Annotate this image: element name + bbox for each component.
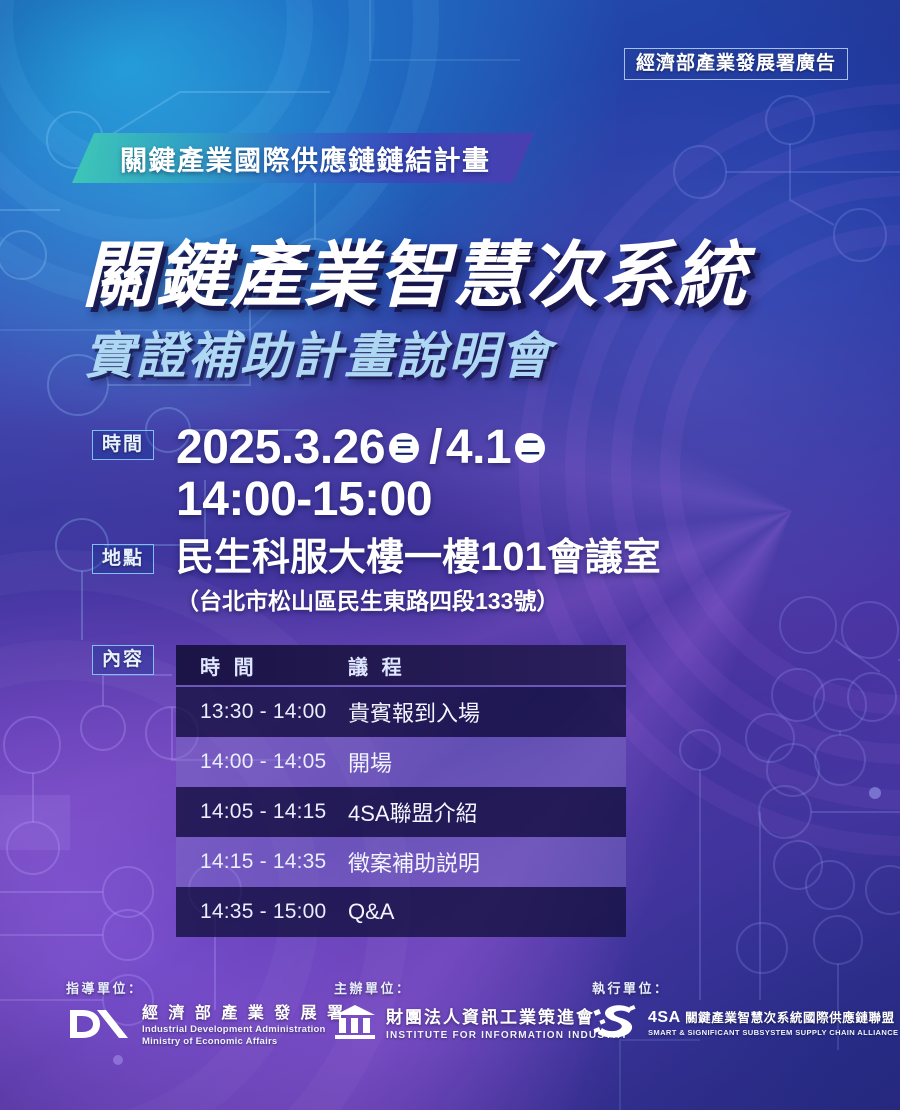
place-label: 地點: [92, 544, 154, 574]
agenda-table-row: 13:30 - 14:00貴賓報到入場: [176, 687, 626, 737]
agenda-table-row: 14:15 - 14:35徵案補助説明: [176, 837, 626, 887]
footer-group-organizer: 主辦單位： 財團法人資訊工業策進會 INSTITUTE FOR I: [334, 978, 628, 1045]
weekday-badge-2: 二: [515, 433, 545, 463]
time-label: 時間: [92, 430, 154, 460]
poster-canvas: 經濟部產業發展署廣告 關鍵產業國際供應鏈鏈結計畫 關鍵產業智慧次系統 實證補助計…: [0, 0, 900, 1110]
agenda-table-row: 14:35 - 15:00Q&A: [176, 887, 626, 937]
agenda-cell-topic: 4SA聯盟介紹: [348, 796, 626, 828]
advertisement-label: 經濟部產業發展署廣告: [624, 48, 848, 80]
agenda-cell-time: 14:35 - 15:00: [176, 900, 348, 924]
time-date-2: 4.1: [446, 424, 511, 473]
venue-address: （台北市松山區民生東路四段133號）: [176, 582, 661, 616]
agenda-cell-topic: Q&A: [348, 899, 626, 925]
ida-name-zh: 經 濟 部 產 業 發 展 署: [142, 1005, 346, 1022]
agenda-column-topic: 議 程: [348, 651, 626, 680]
agenda-table-row: 14:05 - 14:154SA聯盟介紹: [176, 787, 626, 837]
ida-name-en-1: Industrial Development Administration: [142, 1024, 346, 1036]
agenda-cell-time: 14:05 - 14:15: [176, 800, 348, 824]
date-separator: /: [429, 424, 442, 473]
agenda-column-time: 時 間: [176, 651, 348, 680]
footer-group-executor: 執行單位： 4SA 關鍵產業智慧: [592, 978, 898, 1043]
agenda-cell-topic: 貴賓報到入場: [348, 696, 626, 728]
venue-suffix: 會議室: [547, 537, 661, 579]
agenda-label: 內容: [92, 645, 154, 675]
footer-label-organizer: 主辦單位：: [334, 978, 628, 997]
agenda-cell-time: 13:30 - 14:00: [176, 700, 348, 724]
page-title: 關鍵產業智慧次系統: [82, 216, 748, 321]
4sa-name-zh: 關鍵產業智慧次系統國際供應鏈聯盟: [685, 1011, 895, 1025]
agenda-table-body: 13:30 - 14:00貴賓報到入場14:00 - 14:05開場14:05 …: [176, 687, 626, 937]
footer: 指導單位： 經 濟 部 產 業 發 展 署 Industrial Develop…: [0, 978, 900, 1068]
4sa-abbr: 4SA: [648, 1009, 681, 1026]
time-row: 時間 2025.3.26 三 / 4.1 二 14:00-15:00: [92, 424, 549, 525]
time-hours: 14:00-15:00: [176, 475, 549, 525]
footer-label-executor: 執行單位：: [592, 978, 898, 997]
agenda-cell-time: 14:00 - 14:05: [176, 750, 348, 774]
ida-logo-icon: [66, 1007, 132, 1046]
agenda-cell-topic: 開場: [348, 746, 626, 778]
iii-building-icon: [334, 1004, 376, 1045]
venue-prefix: 民生科服大樓一樓: [176, 537, 480, 579]
4sa-swoosh-icon: [592, 1004, 638, 1043]
time-date-1: 2025.3.26: [176, 424, 385, 473]
agenda-table-row: 14:00 - 14:05開場: [176, 737, 626, 787]
program-ribbon-label: 關鍵產業國際供應鏈鏈結計畫: [120, 139, 491, 178]
agenda-row: 內容 時 間 議 程 13:30 - 14:00貴賓報到入場14:00 - 14…: [92, 645, 626, 937]
page-subtitle: 實證補助計畫說明會: [84, 316, 552, 388]
agenda-cell-time: 14:15 - 14:35: [176, 850, 348, 874]
venue-room-number: 101: [480, 535, 547, 579]
iii-name-zh: 財團法人資訊工業策進會: [386, 1008, 595, 1027]
footer-group-guidance: 指導單位： 經 濟 部 產 業 發 展 署 Industrial Develop…: [66, 978, 346, 1049]
ida-name-en-2: Ministry of Economic Affairs: [142, 1036, 346, 1048]
agenda-table: 時 間 議 程 13:30 - 14:00貴賓報到入場14:00 - 14:05…: [176, 645, 626, 937]
agenda-table-header: 時 間 議 程: [176, 645, 626, 687]
place-row: 地點 民生科服大樓一樓101會議室 （台北市松山區民生東路四段133號）: [92, 536, 661, 616]
4sa-name-en: SMART & SIGNIFICANT SUBSYSTEM SUPPLY CHA…: [648, 1028, 898, 1038]
footer-label-guidance: 指導單位：: [66, 978, 346, 997]
agenda-cell-topic: 徵案補助説明: [348, 846, 626, 878]
weekday-badge-1: 三: [389, 433, 419, 463]
program-ribbon: 關鍵產業國際供應鏈鏈結計畫: [72, 133, 535, 183]
